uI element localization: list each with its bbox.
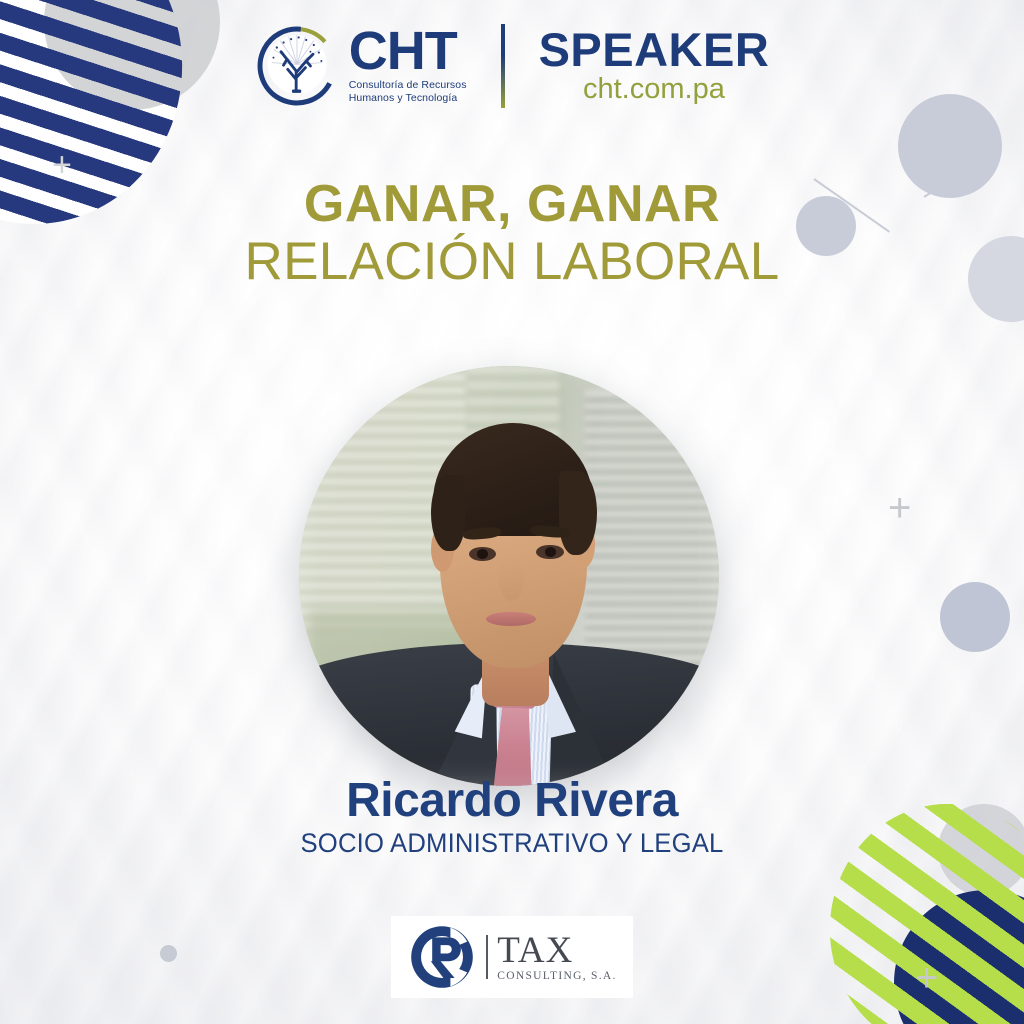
cht-tagline-line1: Consultoría de Recursos — [349, 79, 467, 92]
cht-wordmark: CHT — [349, 27, 467, 77]
title-line-2: RELACIÓN LABORAL — [0, 233, 1024, 290]
speaker-name: Ricardo Rivera — [0, 776, 1024, 827]
sponsor-divider — [486, 935, 488, 979]
cht-wordmark-block: CHT Consultoría de Recursos Humanos y Te… — [349, 27, 467, 104]
speaker-label: SPEAKER — [539, 26, 770, 73]
speaker-portrait-photo — [299, 366, 719, 786]
portrait-highlight — [299, 366, 719, 786]
right-accent-circle-icon — [940, 582, 1010, 652]
speaker-label-block: SPEAKER cht.com.pa — [539, 26, 770, 106]
sponsor-text: TAX CONSULTING, S.A. — [497, 932, 616, 983]
header-divider — [501, 24, 505, 108]
title-line-1: GANAR, GANAR — [0, 178, 1024, 231]
cht-tagline: Consultoría de Recursos Humanos y Tecnol… — [349, 79, 467, 105]
sponsor-name: TAX — [497, 932, 616, 969]
poster-header: CHT Consultoría de Recursos Humanos y Te… — [0, 24, 1024, 108]
sponsor-lockup: TAX CONSULTING, S.A. — [391, 916, 632, 998]
sponsor-logo: TAX CONSULTING, S.A. — [0, 916, 1024, 998]
cht-tagline-line2: Humanos y Tecnología — [349, 92, 467, 105]
speaker-poster: + + + — [0, 0, 1024, 1024]
poster-title: GANAR, GANAR RELACIÓN LABORAL — [0, 178, 1024, 290]
website-url[interactable]: cht.com.pa — [583, 74, 725, 106]
speaker-role: SOCIO ADMINISTRATIVO Y LEGAL — [26, 829, 999, 859]
sponsor-subtitle: CONSULTING, S.A. — [497, 971, 616, 983]
speaker-identity: Ricardo Rivera SOCIO ADMINISTRATIVO Y LE… — [0, 776, 1024, 859]
plus-mark-icon-left: + — [52, 148, 72, 182]
plus-mark-icon-right: + — [888, 488, 911, 528]
tree-in-circle-icon — [255, 24, 339, 108]
cht-brand-lockup: CHT Consultoría de Recursos Humanos y Te… — [255, 24, 467, 108]
cr-monogram-icon — [407, 922, 477, 992]
